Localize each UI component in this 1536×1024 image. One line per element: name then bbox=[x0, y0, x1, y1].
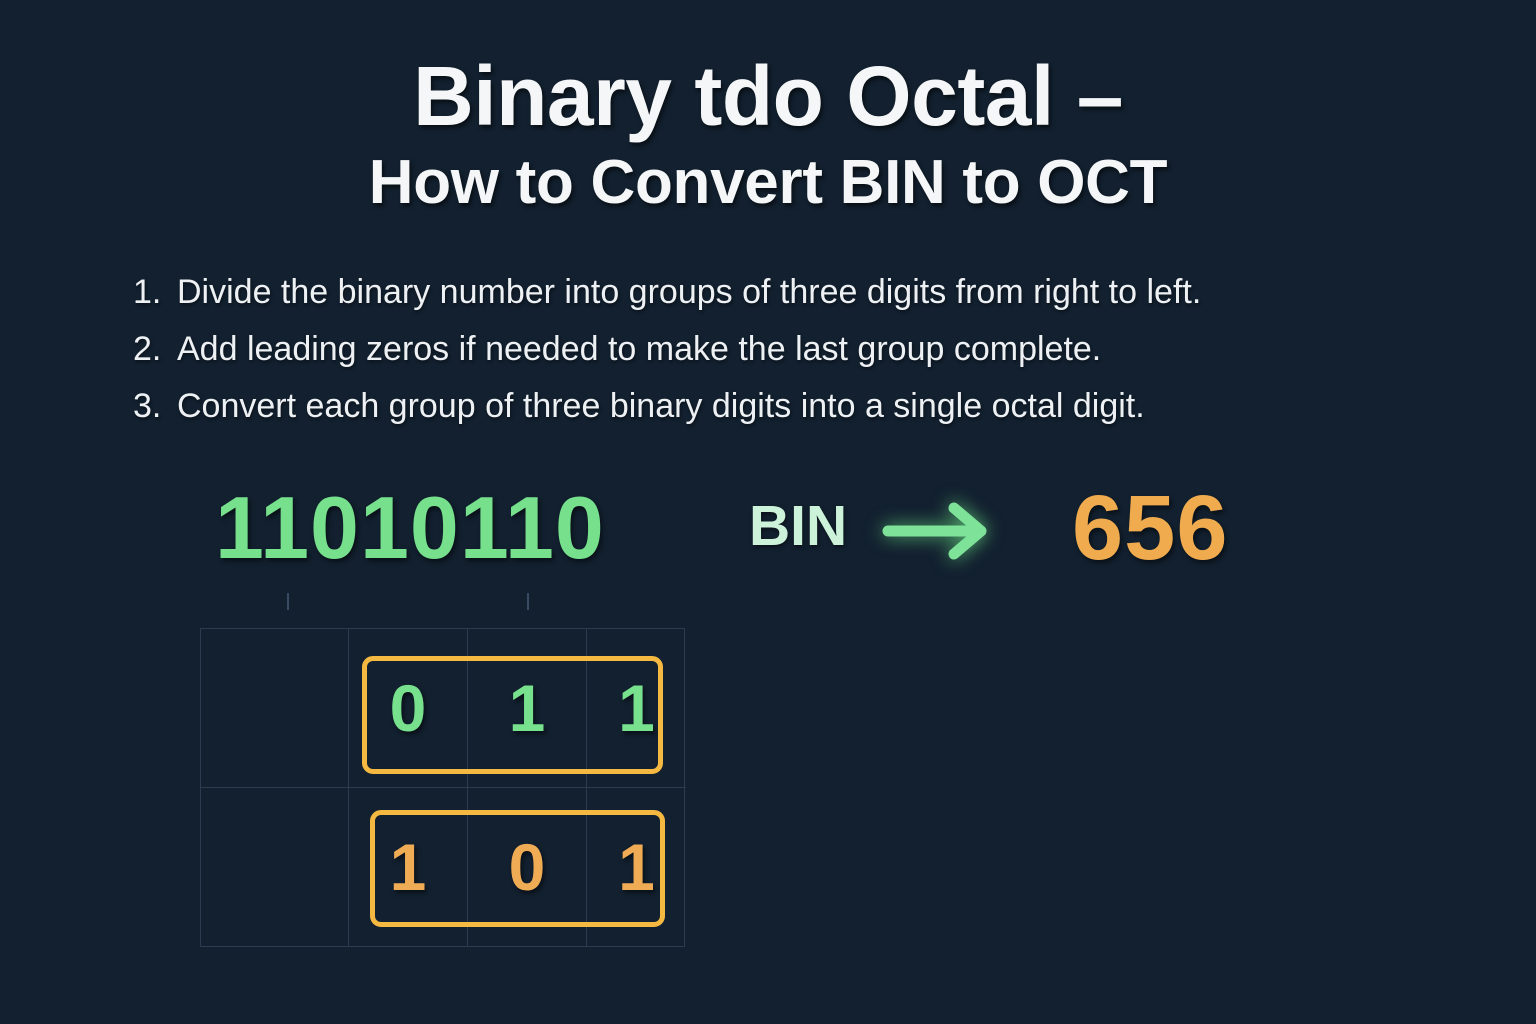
step-text: Divide the binary number into groups of … bbox=[177, 264, 1201, 321]
page-subtitle: How to Convert BIN to OCT bbox=[0, 144, 1536, 222]
grid-cell bbox=[201, 788, 349, 947]
step-text: Convert each group of three binary digit… bbox=[177, 378, 1145, 435]
title-block: Binary tdo Octal – How to Convert BIN to… bbox=[0, 0, 1536, 222]
grid-cell: 0 bbox=[468, 788, 587, 947]
step-text: Add leading zeros if needed to make the … bbox=[177, 321, 1101, 378]
group-tick-mark bbox=[287, 593, 289, 610]
grid-cell: 1 bbox=[349, 788, 468, 947]
from-base-label: BIN bbox=[749, 490, 847, 562]
step-number: 1. bbox=[133, 264, 177, 321]
grid-cell: 1 bbox=[587, 788, 686, 947]
grid-cell bbox=[201, 629, 349, 788]
list-item: 3. Convert each group of three binary di… bbox=[133, 378, 1453, 435]
grid-cell: 0 bbox=[349, 629, 468, 788]
arrow-right-icon bbox=[880, 500, 1000, 562]
list-item: 1. Divide the binary number into groups … bbox=[133, 264, 1453, 321]
list-item: 2. Add leading zeros if needed to make t… bbox=[133, 321, 1453, 378]
binary-value: 11010110 bbox=[215, 478, 605, 578]
digit-grid: 0 1 1 1 0 1 bbox=[200, 628, 685, 947]
group-tick-mark bbox=[527, 593, 529, 610]
steps-list: 1. Divide the binary number into groups … bbox=[133, 264, 1453, 435]
page-title: Binary tdo Octal – bbox=[0, 52, 1536, 140]
octal-value: 656 bbox=[1072, 478, 1229, 578]
step-number: 2. bbox=[133, 321, 177, 378]
grid-cell: 1 bbox=[587, 629, 686, 788]
conversion-row: 11010110 BIN 656 bbox=[0, 478, 1536, 588]
grid-cell: 1 bbox=[468, 629, 587, 788]
step-number: 3. bbox=[133, 378, 177, 435]
